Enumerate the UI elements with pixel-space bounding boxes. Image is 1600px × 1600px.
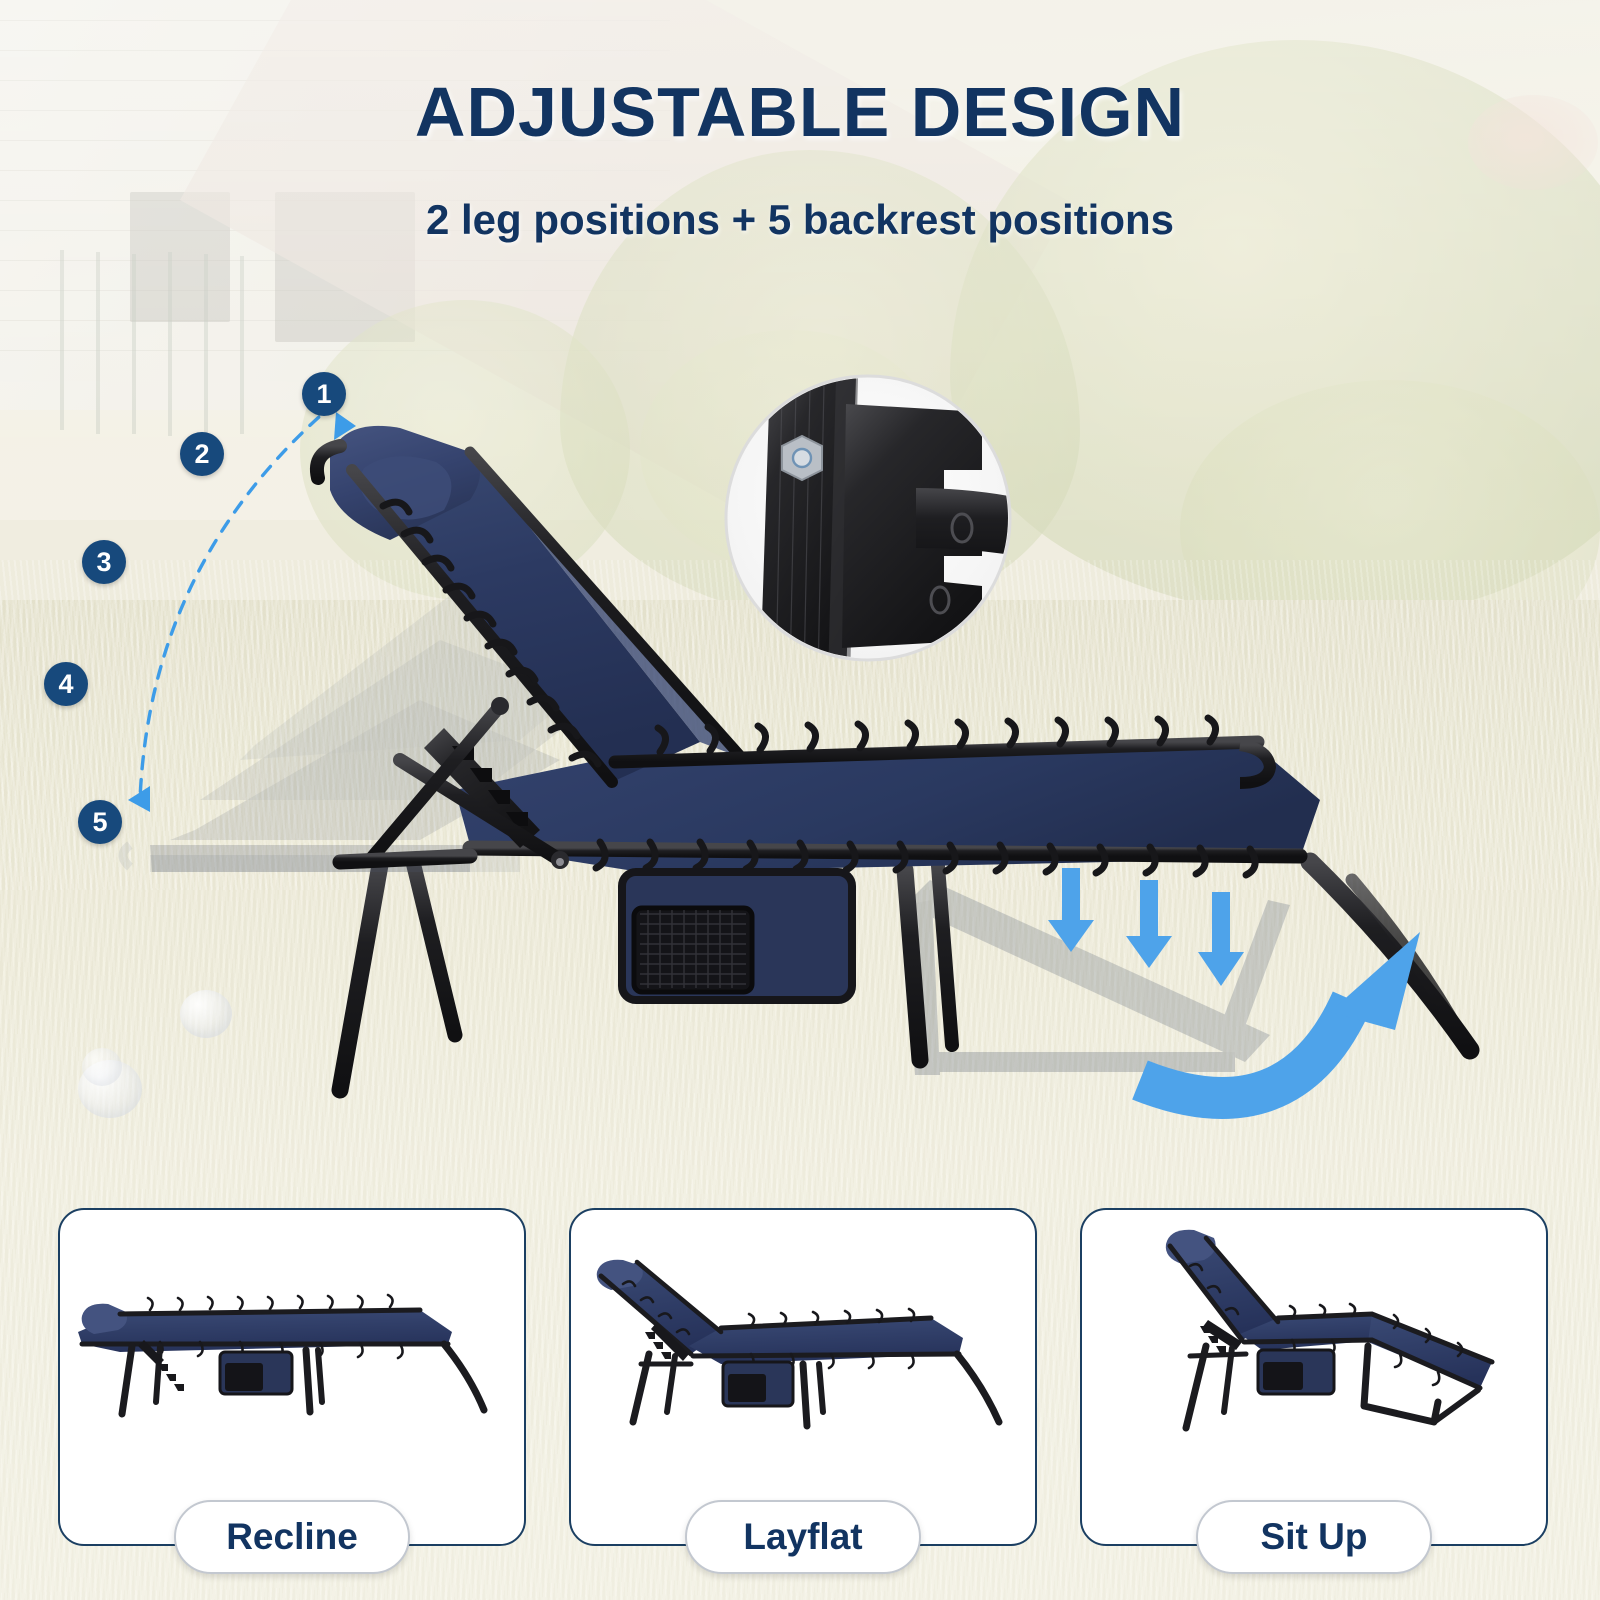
panel-label-layflat: Layflat — [685, 1500, 921, 1574]
panel-label-sit-up: Sit Up — [1196, 1500, 1432, 1574]
lounger-recline-art — [60, 1214, 528, 1464]
position-badge-3: 3 — [82, 540, 126, 584]
position-badge-2: 2 — [180, 432, 224, 476]
lounger-layflat-art — [571, 1214, 1039, 1464]
position-badge-1: 1 — [302, 372, 346, 416]
page-title: ADJUSTABLE DESIGN — [0, 72, 1600, 152]
panel-recline[interactable]: Recline — [58, 1208, 526, 1546]
product-infographic: ADJUSTABLE DESIGN 2 leg positions + 5 ba… — [0, 0, 1600, 1600]
panel-layflat[interactable]: Layflat — [569, 1208, 1037, 1546]
position-badge-4: 4 — [44, 662, 88, 706]
position-panels: Recline — [58, 1208, 1548, 1546]
lounger-sit-up-art — [1082, 1214, 1550, 1464]
panel-sit-up[interactable]: Sit Up — [1080, 1208, 1548, 1546]
position-badge-5: 5 — [78, 800, 122, 844]
page-subtitle: 2 leg positions + 5 backrest positions — [0, 196, 1600, 244]
panel-label-recline: Recline — [174, 1500, 410, 1574]
